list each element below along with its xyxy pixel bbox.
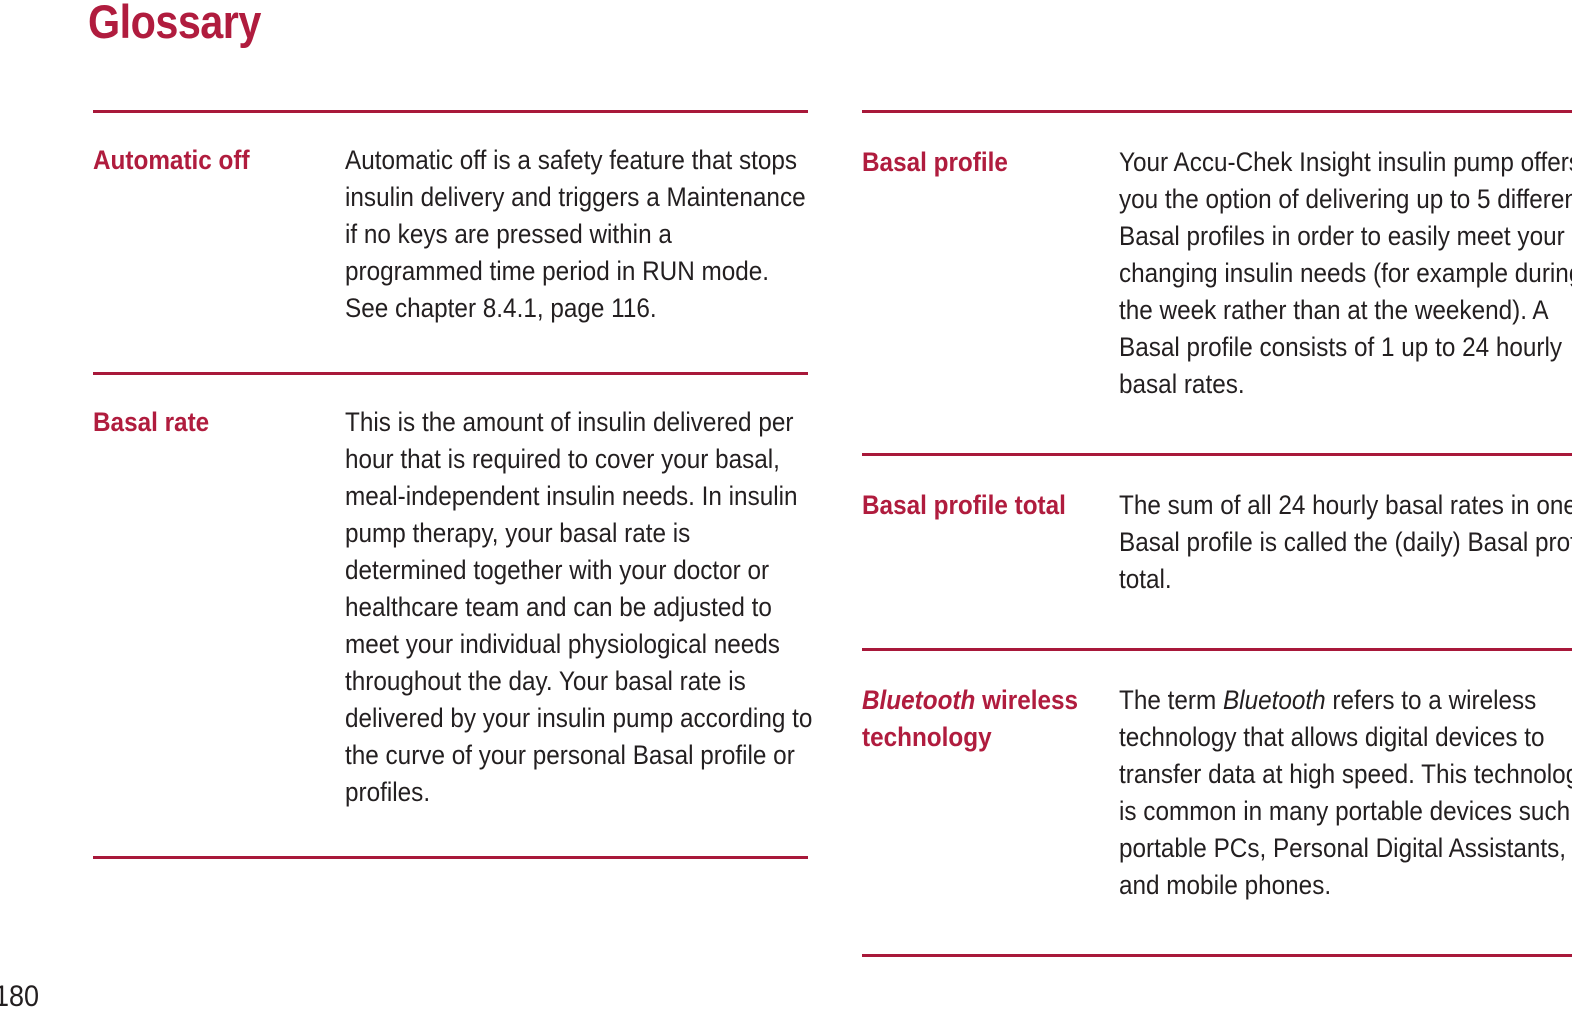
glossary-term: Automatic off [93,142,320,179]
definition-text-pre: The term [1119,685,1223,715]
glossary-term-label: Basal rate [93,407,209,437]
glossary-term-label: Basal profile total [862,490,1066,520]
glossary-term-label: Basal profile [862,147,1008,177]
glossary-entry: Bluetooth wireless technology The term B… [862,651,1572,904]
glossary-entry: Basal profile Your Accu-Chek Insight ins… [862,113,1572,403]
glossary-definition: The term Bluetooth refers to a wireless … [1119,682,1572,904]
glossary-term-label: Automatic off [93,145,250,175]
column-closing-rule [862,954,1572,957]
glossary-term: Basal profile total [862,487,1093,524]
glossary-term: Basal rate [93,404,320,441]
definition-text-post: refers to a wireless technology that all… [1119,685,1572,900]
glossary-term: Basal profile [862,144,1093,181]
definition-text-italic: Bluetooth [1223,685,1326,715]
glossary-term-italic-part: Bluetooth [862,685,975,715]
glossary-definition: Your Accu-Chek Insight insulin pump offe… [1119,144,1572,403]
glossary-entry: Basal profile total The sum of all 24 ho… [862,456,1572,598]
definition-text-pre: Your Accu-Chek Insight insulin pump offe… [1119,147,1572,399]
glossary-entry: Automatic off Automatic off is a safety … [93,113,808,327]
glossary-definition: The sum of all 24 hourly basal rates in … [1119,487,1572,598]
page-number: 180 [0,980,39,1014]
definition-text-pre: Automatic off is a safety feature that s… [345,145,806,323]
page-title: Glossary [88,0,261,49]
glossary-definition: Automatic off is a safety feature that s… [345,142,813,327]
column-closing-rule [93,856,808,859]
definition-text-pre: The sum of all 24 hourly basal rates in … [1119,490,1572,594]
glossary-column-left: Automatic off Automatic off is a safety … [93,110,808,859]
glossary-entry: Basal rate This is the amount of insulin… [93,375,808,811]
definition-text-pre: This is the amount of insulin delivered … [345,407,812,807]
glossary-definition: This is the amount of insulin delivered … [345,404,813,811]
glossary-term: Bluetooth wireless technology [862,682,1093,756]
glossary-column-right: Basal profile Your Accu-Chek Insight ins… [862,110,1572,957]
